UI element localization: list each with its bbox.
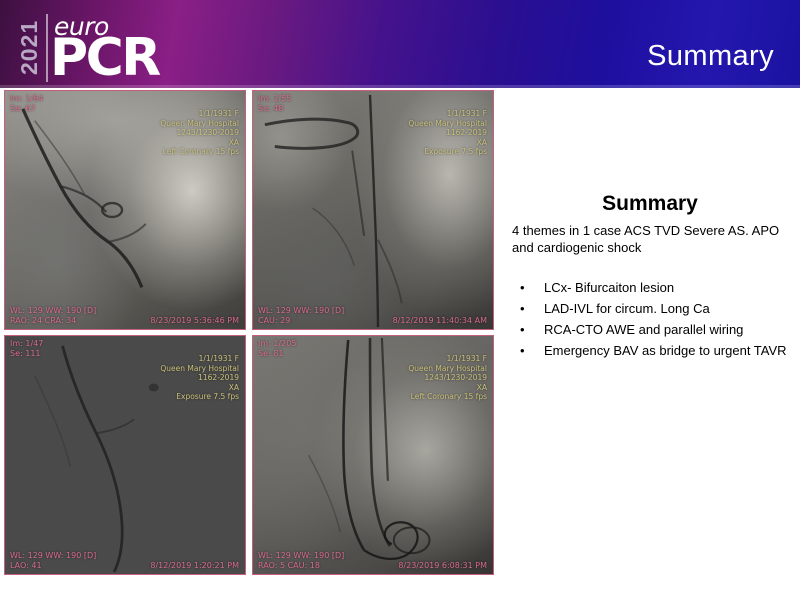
summary-content-pane: Summary 4 themes in 1 case ACS TVD Sever… <box>512 192 788 362</box>
list-item: RCA-CTO AWE and parallel wiring <box>512 320 788 339</box>
logo-year-text: 2021 <box>16 12 42 82</box>
patient-info-label: 1/1/1931 F Queen Mary Hospital 1243/1230… <box>408 354 487 402</box>
patient-info-label: 1/1/1931 F Queen Mary Hospital 1162-2019… <box>408 109 487 157</box>
window-level-label: WL: 129 WW: 190 [D] RAO: 24 CRA: 34 <box>10 306 96 326</box>
list-item: LAD-IVL for circum. Long Ca <box>512 299 788 318</box>
window-level-label: WL: 129 WW: 190 [D] LAO: 41 <box>10 551 96 571</box>
acquisition-timestamp: 8/23/2019 5:36:46 PM <box>150 316 239 326</box>
window-level-label: WL: 129 WW: 190 [D] RAO: 5 CAU: 18 <box>258 551 344 571</box>
window-level-label: WL: 129 WW: 190 [D] CAU: 29 <box>258 306 344 326</box>
list-item: LCx- Bifurcaiton lesion <box>512 278 788 297</box>
patient-info-label: 1/1/1931 F Queen Mary Hospital 1243/1230… <box>160 109 239 157</box>
summary-intro-text: 4 themes in 1 case ACS TVD Severe AS. AP… <box>512 222 788 256</box>
angio-panel-top-right[interactable]: Im: 1/55 Se: 48 1/1/1931 F Queen Mary Ho… <box>252 90 494 330</box>
image-series-label: Im: 1/47 Se: 111 <box>10 339 43 359</box>
image-series-label: Im: 1/64 Se: 67 <box>10 94 43 114</box>
logo-divider <box>46 14 48 82</box>
angiography-image-grid: Im: 1/64 Se: 67 1/1/1931 F Queen Mary Ho… <box>4 90 498 578</box>
angio-panel-bottom-left[interactable]: Im: 1/47 Se: 111 1/1/1931 F Queen Mary H… <box>4 335 246 575</box>
image-series-label: Im: 1/55 Se: 48 <box>258 94 291 114</box>
slide-title: Summary <box>647 40 774 73</box>
logo-pcr-text: PCR <box>50 32 159 84</box>
list-item: Emergency BAV as bridge to urgent TAVR <box>512 341 788 360</box>
angio-panel-bottom-right[interactable]: Im: 1/205 Se: 81 1/1/1931 F Queen Mary H… <box>252 335 494 575</box>
angio-panel-top-left[interactable]: Im: 1/64 Se: 67 1/1/1931 F Queen Mary Ho… <box>4 90 246 330</box>
acquisition-timestamp: 8/23/2019 6:08:31 PM <box>398 561 487 571</box>
acquisition-timestamp: 8/12/2019 1:20:21 PM <box>150 561 239 571</box>
summary-heading: Summary <box>512 192 788 216</box>
header-banner: 2021 euro PCR Summary <box>0 0 800 88</box>
image-series-label: Im: 1/205 Se: 81 <box>258 339 296 359</box>
summary-bullet-list: LCx- Bifurcaiton lesion LAD-IVL for circ… <box>512 278 788 360</box>
patient-info-label: 1/1/1931 F Queen Mary Hospital 1162-2019… <box>160 354 239 402</box>
europcr-logo: 2021 euro PCR <box>16 8 186 84</box>
acquisition-timestamp: 8/12/2019 11:40:34 AM <box>393 316 487 326</box>
